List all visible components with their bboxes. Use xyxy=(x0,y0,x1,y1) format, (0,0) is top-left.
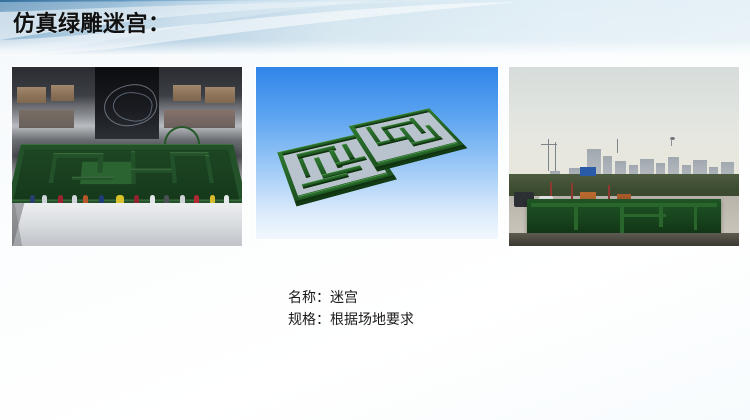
spec-name-line: 名称：迷宫 xyxy=(288,286,414,308)
maze-3d-render xyxy=(256,67,498,239)
page-title: 仿真绿雕迷宫： xyxy=(13,11,171,37)
gallery-image-maze-3d-render[interactable] xyxy=(255,66,499,240)
product-spec-block: 名称：迷宫 规格：根据场地要求 xyxy=(288,286,414,330)
gallery-image-outdoor-roadside-maze[interactable] xyxy=(508,66,740,247)
slide-canvas: 仿真绿雕迷宫： xyxy=(0,0,750,420)
gallery-image-mall-atrium-maze[interactable] xyxy=(11,66,243,247)
outdoor-roadside-maze-photo xyxy=(509,67,739,246)
spec-size-line: 规格：根据场地要求 xyxy=(288,308,414,330)
image-gallery-row xyxy=(0,64,750,249)
mall-atrium-maze-photo xyxy=(12,67,242,246)
slide-header-band: 仿真绿雕迷宫： xyxy=(0,0,750,56)
